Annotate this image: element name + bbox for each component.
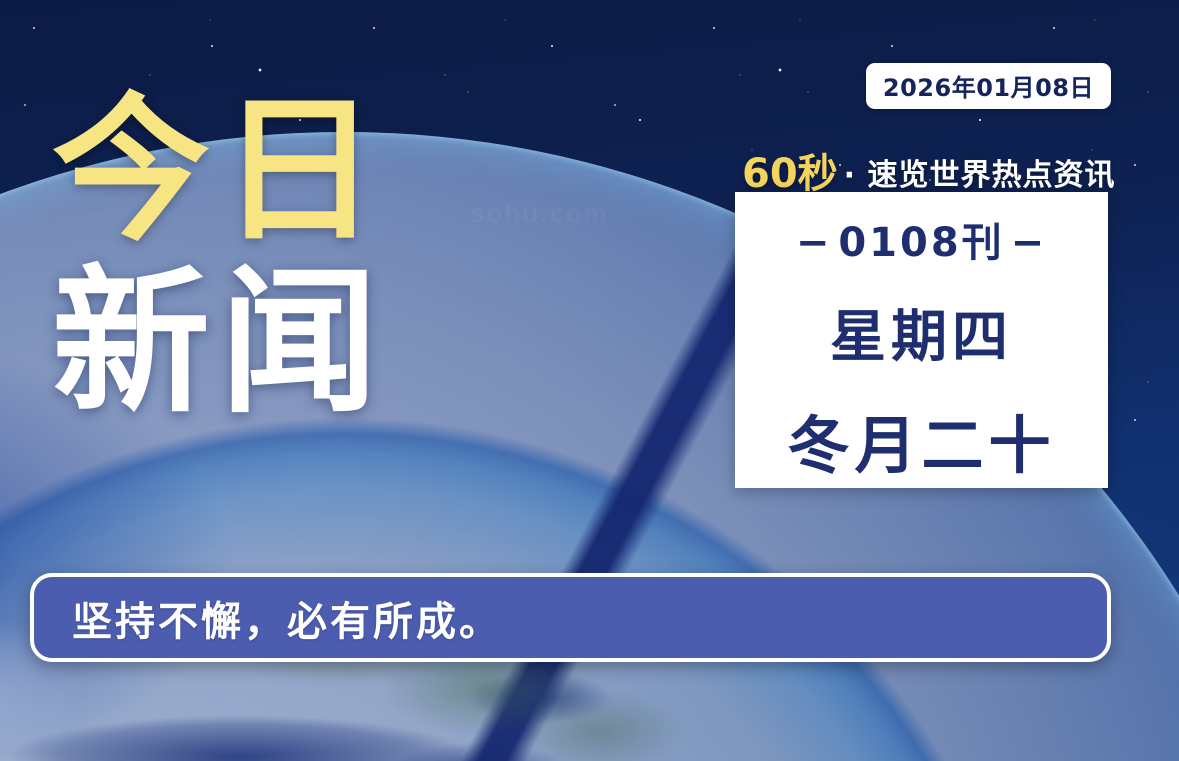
news-poster: sohu.com 今日 新闻 2026年01月08日 60秒· 速览世界热点资讯… — [0, 0, 1179, 761]
issue-dash-right: − — [1011, 220, 1048, 266]
weekday-label: 星期四 — [830, 292, 1013, 373]
quote-text: 坚持不懈，必有所成。 — [72, 589, 502, 647]
date-badge: 2026年01月08日 — [866, 63, 1111, 109]
title-line-xinwen: 新闻 — [52, 268, 388, 420]
quote-banner: 坚持不懈，必有所成。 — [30, 573, 1111, 662]
issue-number: 0108刊 — [838, 220, 1004, 266]
poster-title: 今日 新闻 — [52, 96, 388, 419]
issue-dash-left: − — [796, 220, 833, 266]
lunar-date-label: 冬月二十 — [787, 395, 1055, 485]
title-line-jinri: 今日 — [52, 96, 388, 248]
tagline-duration: 60秒 — [742, 151, 838, 197]
issue-number-row: −0108刊− — [790, 210, 1053, 268]
tagline-description: · 速览世界热点资讯 — [844, 158, 1116, 193]
image-watermark: sohu.com — [470, 198, 609, 229]
tagline: 60秒· 速览世界热点资讯 — [742, 141, 1116, 199]
issue-info-card: −0108刊− 星期四 冬月二十 — [735, 192, 1108, 488]
